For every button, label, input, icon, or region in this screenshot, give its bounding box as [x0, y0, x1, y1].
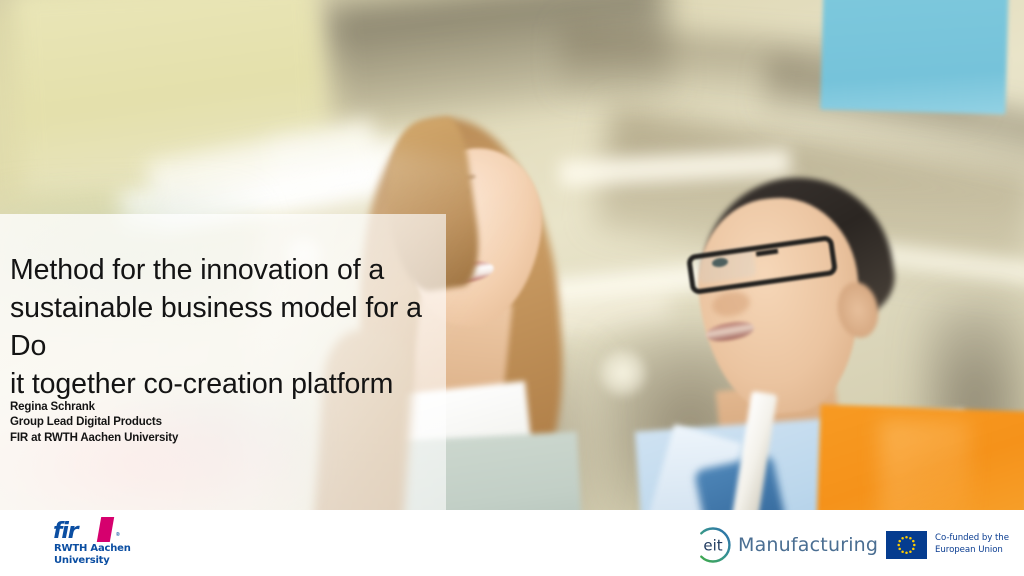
- fir-logo-text: fir: [53, 519, 77, 544]
- author-role: Group Lead Digital Products: [10, 415, 430, 430]
- blue-sticky-note: [820, 0, 1008, 114]
- eu-flag-icon: [886, 531, 927, 559]
- fir-subtitle: RWTH Aachen University: [54, 543, 131, 566]
- fir-trademark-icon: ®: [116, 532, 120, 538]
- slide-title: Method for the innovation of a sustainab…: [10, 252, 440, 404]
- eit-manufacturing-wordmark: Manufacturing: [738, 534, 878, 556]
- bokeh-light-decor: [600, 350, 646, 396]
- slide-footer: fir ® RWTH Aachen University: [0, 510, 1024, 576]
- title-overlay-panel: Method for the innovation of a sustainab…: [0, 214, 446, 510]
- fir-magenta-bar-icon: [97, 517, 114, 542]
- presentation-slide: Method for the innovation of a sustainab…: [0, 0, 1024, 576]
- fir-wordmark: fir ®: [53, 521, 139, 543]
- svg-text:eit: eit: [703, 536, 722, 554]
- author-name: Regina Schrank: [10, 400, 430, 415]
- author-block: Regina Schrank Group Lead Digital Produc…: [10, 400, 430, 446]
- eu-cofunded-logo: Co-funded by the European Union: [886, 530, 1016, 560]
- fir-rwth-logo: fir ® RWTH Aachen University: [53, 521, 173, 569]
- eit-circle-icon: eit: [694, 526, 732, 564]
- author-affiliation: FIR at RWTH Aachen University: [10, 431, 430, 446]
- eit-manufacturing-logo: eit Manufacturing: [694, 526, 864, 564]
- eu-cofunded-text: Co-funded by the European Union: [935, 533, 1009, 556]
